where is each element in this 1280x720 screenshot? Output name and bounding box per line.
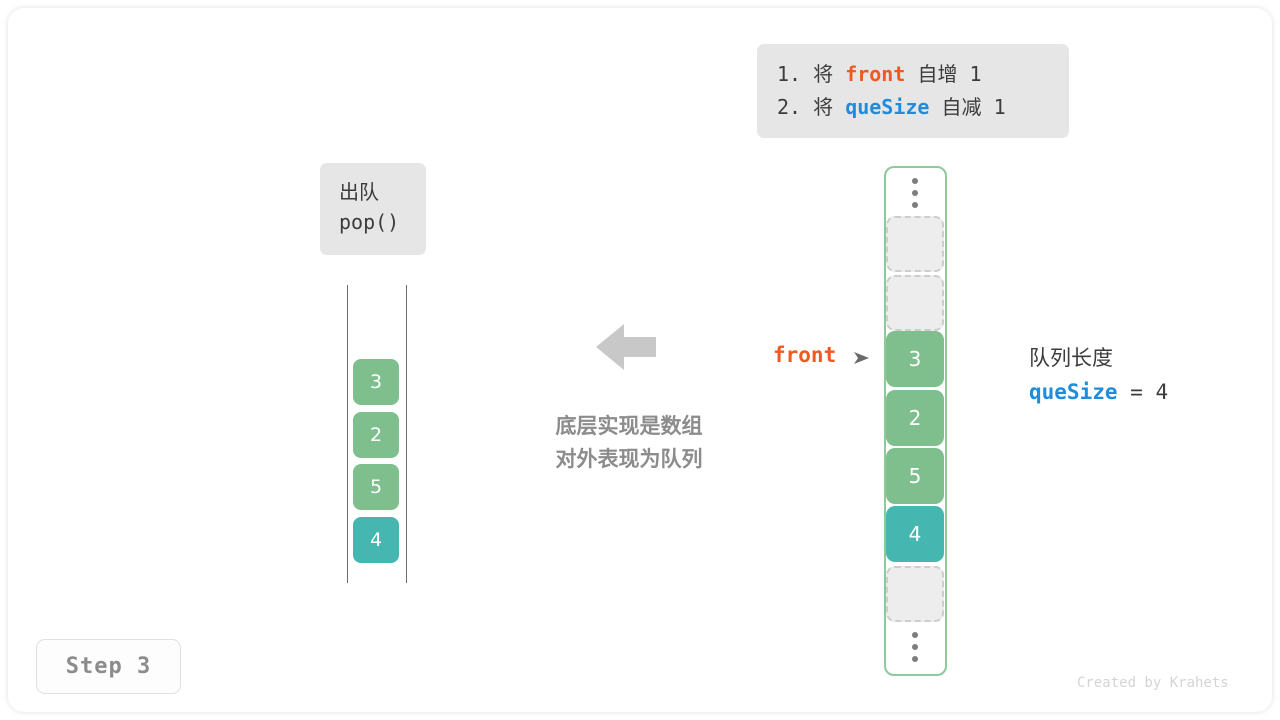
- array-cell-filled: 4: [886, 506, 944, 562]
- array-cell-filled: 3: [886, 331, 944, 387]
- left-queue-cell: 3: [353, 359, 399, 405]
- left-arrow-icon: [596, 322, 656, 372]
- queue-size-value: 4: [1155, 380, 1168, 404]
- implementation-note-line-1: 底层实现是数组: [529, 410, 729, 443]
- implementation-note: 底层实现是数组 对外表现为队列: [529, 410, 729, 476]
- pop-code: pop(): [339, 207, 426, 238]
- array-cell-filled: 5: [886, 448, 944, 504]
- instruction-2-prefix: 将: [813, 95, 833, 119]
- array-top-ellipsis-icon: [910, 178, 920, 208]
- pop-operation-label: 出队 pop(): [320, 163, 426, 255]
- instruction-line-2: 2. 将 queSize 自减 1: [777, 91, 1049, 124]
- instruction-1-index: 1.: [777, 62, 801, 86]
- instruction-1-suffix: 自增: [917, 62, 957, 86]
- instruction-1-prefix: 将: [813, 62, 833, 86]
- instruction-2-code: queSize: [845, 95, 929, 119]
- instruction-callout: 1. 将 front 自增 1 2. 将 queSize 自减 1: [757, 44, 1069, 138]
- queue-size-expression: queSize = 4: [1029, 374, 1168, 410]
- diagram-canvas: 1. 将 front 自增 1 2. 将 queSize 自减 1 出队 pop…: [0, 0, 1280, 720]
- queue-size-var: queSize: [1029, 380, 1118, 404]
- array-cell-empty: [886, 566, 944, 622]
- queue-size-note: 队列长度 queSize = 4: [1029, 342, 1168, 410]
- front-pointer-arrow-icon: [853, 350, 871, 366]
- left-queue-cell: 5: [353, 464, 399, 510]
- left-queue-rail-right: [406, 285, 407, 583]
- instruction-2-suffix: 自减: [942, 95, 982, 119]
- instruction-1-value: 1: [970, 62, 982, 86]
- queue-size-equals: =: [1118, 380, 1156, 404]
- instruction-2-index: 2.: [777, 95, 801, 119]
- left-queue-cell: 4: [353, 517, 399, 563]
- left-queue-cell: 2: [353, 412, 399, 458]
- instruction-1-code: front: [845, 62, 905, 86]
- pop-title: 出队: [339, 177, 426, 207]
- implementation-note-line-2: 对外表现为队列: [529, 443, 729, 476]
- credit-text: Created by Krahets: [1077, 675, 1229, 691]
- front-pointer-label: front: [773, 343, 836, 367]
- left-queue-rail-left: [347, 285, 348, 583]
- array-cell-empty: [886, 275, 944, 331]
- instruction-2-value: 1: [994, 95, 1006, 119]
- array-cell-filled: 2: [886, 390, 944, 446]
- array-bottom-ellipsis-icon: [910, 632, 920, 662]
- queue-size-title: 队列长度: [1029, 342, 1168, 374]
- step-badge: Step 3: [36, 639, 181, 694]
- instruction-line-1: 1. 将 front 自增 1: [777, 58, 1049, 91]
- array-cell-empty: [886, 216, 944, 272]
